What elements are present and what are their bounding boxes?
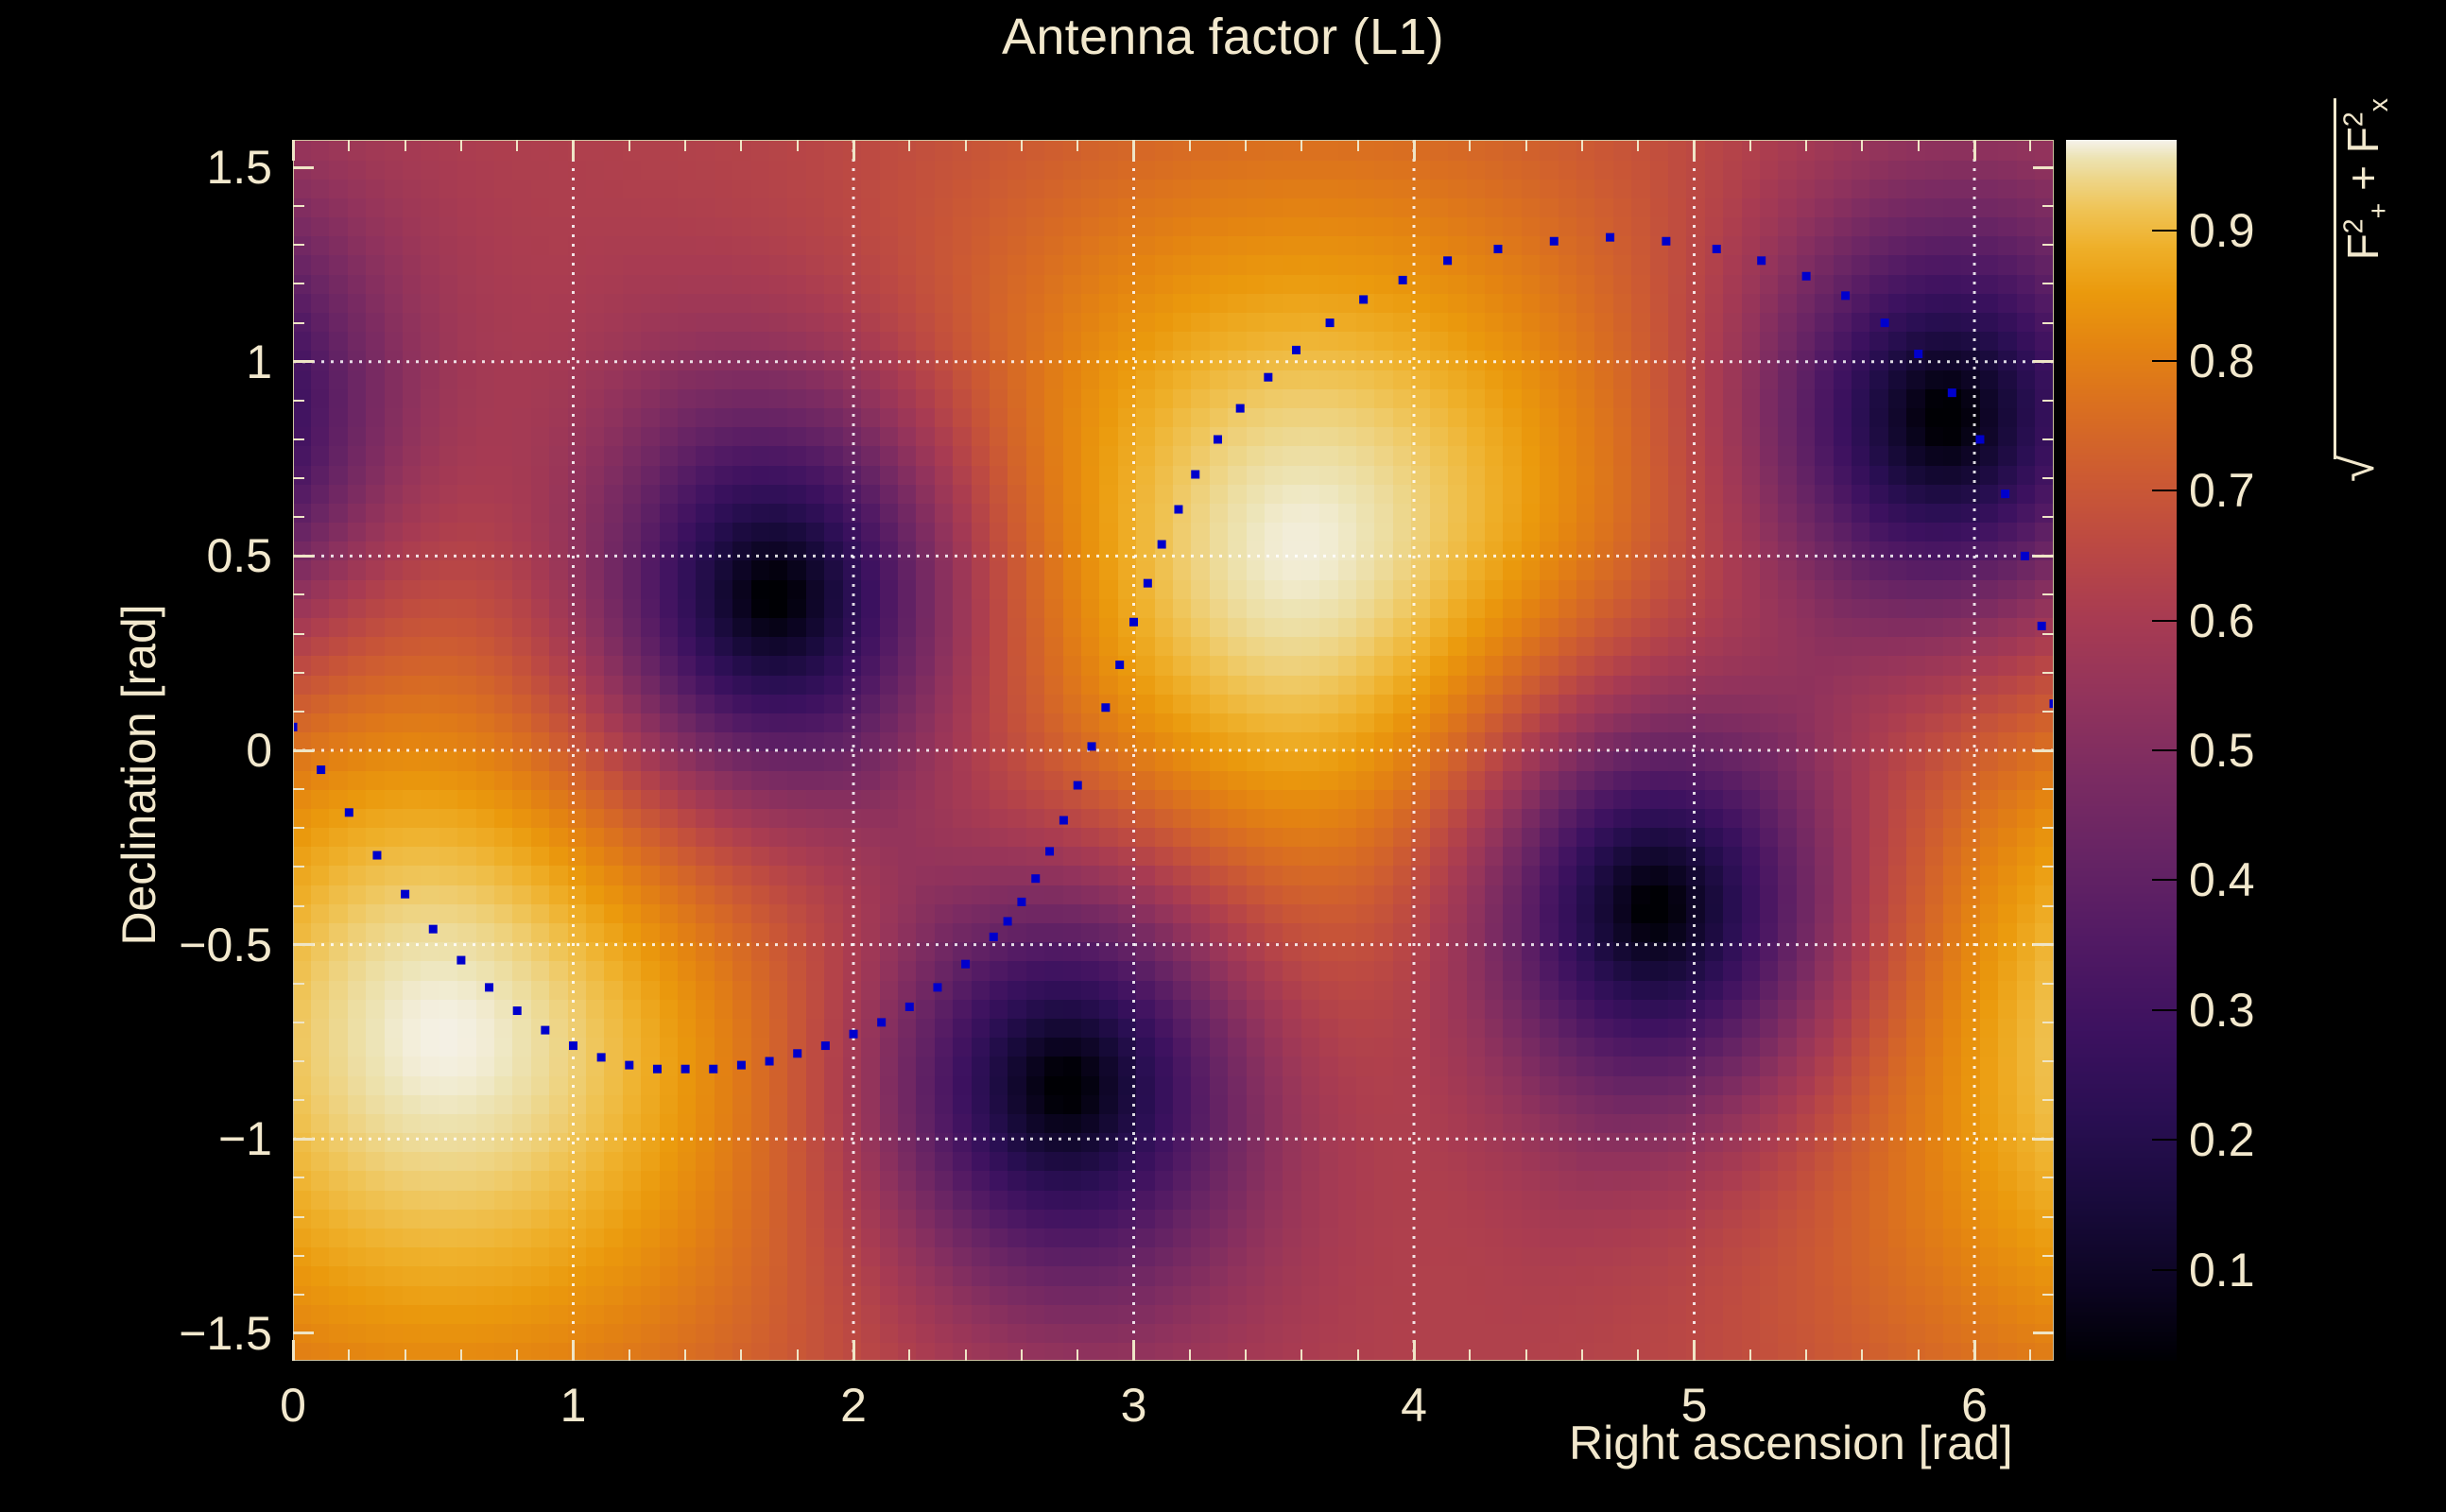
x-axis-minor-tick: [1301, 140, 1302, 151]
x-axis-minor-tick: [1245, 1349, 1247, 1361]
y-axis-minor-tick: [2042, 866, 2054, 868]
x-axis-minor-tick: [2029, 140, 2031, 151]
x-axis-minor-tick: [516, 140, 518, 151]
y-axis-minor-tick: [2042, 477, 2054, 479]
x-axis-title: Right ascension [rad]: [1569, 1416, 2013, 1470]
y-axis-minor-tick: [293, 1255, 304, 1257]
x-axis-tick-label: 3: [1121, 1378, 1147, 1433]
colorbar-tick: [2152, 1269, 2177, 1271]
x-axis-tick-label: 1: [560, 1378, 587, 1433]
y-axis-minor-tick: [293, 322, 304, 324]
radicand-b: F: [2338, 127, 2387, 153]
y-axis-tick: [293, 1138, 314, 1141]
colorbar-tick-label: 0.8: [2189, 334, 2255, 388]
y-axis-minor-tick: [293, 633, 304, 635]
y-axis-tick-label: −1.5: [76, 1306, 272, 1361]
x-axis-minor-tick: [740, 1349, 742, 1361]
x-axis-minor-tick: [2029, 1349, 2031, 1361]
plot-area[interactable]: [293, 140, 2054, 1361]
colorbar-tick: [2152, 490, 2177, 491]
colorbar-tick: [2152, 879, 2177, 881]
y-axis-minor-tick: [2042, 1216, 2054, 1218]
y-axis-minor-tick: [2042, 283, 2054, 284]
y-axis-minor-tick: [2042, 788, 2054, 790]
y-axis-tick-label: 1: [76, 335, 272, 389]
y-axis-minor-tick: [293, 1216, 304, 1218]
x-axis-minor-tick: [1918, 1349, 1920, 1361]
heatmap-image: [293, 140, 2054, 1361]
colorbar-tick: [2152, 620, 2177, 622]
x-axis-minor-tick: [1581, 140, 1583, 151]
x-axis-tick: [572, 140, 575, 161]
root-canvas: Antenna factor (L1) 0123456 −1.5−1−0.500…: [0, 0, 2446, 1512]
y-axis-minor-tick: [293, 1099, 304, 1101]
x-axis-minor-tick: [348, 140, 350, 151]
x-axis-minor-tick: [908, 140, 910, 151]
x-axis-minor-tick: [460, 1349, 462, 1361]
colorbar-tick-label: 0.4: [2189, 852, 2255, 907]
x-axis-minor-tick: [1749, 140, 1751, 151]
radicand-b-sup: 2: [2339, 112, 2369, 127]
colorbar-tick: [2152, 230, 2177, 232]
y-axis-tick: [2033, 1332, 2054, 1334]
radicand-b-sub: x: [2364, 98, 2394, 112]
x-axis-minor-tick: [965, 140, 967, 151]
y-axis-minor-tick: [2042, 593, 2054, 595]
x-axis-tick: [1973, 140, 1976, 161]
y-axis-minor-tick: [2042, 1255, 2054, 1257]
y-axis-tick: [2033, 555, 2054, 558]
y-axis-minor-tick: [293, 244, 304, 246]
plus-sign: +: [2338, 153, 2387, 202]
y-axis-minor-tick: [293, 516, 304, 518]
y-axis-minor-tick: [293, 438, 304, 440]
y-axis-minor-tick: [293, 1294, 304, 1296]
x-axis-minor-tick: [908, 1349, 910, 1361]
y-axis-minor-tick: [293, 477, 304, 479]
y-axis-tick: [293, 1332, 314, 1334]
y-axis-tick: [2033, 360, 2054, 363]
x-axis-minor-tick: [1861, 1349, 1863, 1361]
y-axis-minor-tick: [2042, 983, 2054, 985]
x-axis-minor-tick: [1805, 1349, 1807, 1361]
x-axis-minor-tick: [348, 1349, 350, 1361]
y-axis-minor-tick: [293, 400, 304, 402]
y-axis-tick-label: 1.5: [76, 140, 272, 195]
x-axis-tick: [1413, 140, 1416, 161]
radicand-a-sup: 2: [2339, 218, 2369, 233]
x-axis-minor-tick: [1749, 1349, 1751, 1361]
sqrt-icon: √: [2333, 455, 2382, 482]
y-axis-minor-tick: [293, 672, 304, 674]
y-axis-minor-tick: [293, 1022, 304, 1023]
y-axis-minor-tick: [2042, 672, 2054, 674]
y-axis-minor-tick: [2042, 438, 2054, 440]
y-axis-minor-tick: [2042, 205, 2054, 207]
x-axis-minor-tick: [405, 1349, 406, 1361]
y-axis-tick-label: 0: [76, 723, 272, 778]
y-axis-tick: [293, 166, 314, 169]
x-axis-tick: [292, 140, 295, 161]
y-axis-minor-tick: [2042, 827, 2054, 829]
x-axis-tick: [292, 1340, 295, 1361]
y-axis-minor-tick: [2042, 244, 2054, 246]
y-axis-title: Declination [rad]: [112, 604, 166, 945]
y-axis-minor-tick: [293, 866, 304, 868]
x-axis-minor-tick: [1021, 1349, 1023, 1361]
x-axis-minor-tick: [1077, 1349, 1078, 1361]
x-axis-tick: [853, 1340, 855, 1361]
y-axis-tick: [2033, 943, 2054, 946]
colorbar-tick-label: 0.7: [2189, 463, 2255, 518]
y-axis-minor-tick: [293, 205, 304, 207]
y-axis-minor-tick: [2042, 1022, 2054, 1023]
x-axis-minor-tick: [1021, 140, 1023, 151]
page-title: Antenna factor (L1): [0, 8, 2446, 66]
y-axis-minor-tick: [2042, 1060, 2054, 1062]
y-axis-minor-tick: [2042, 711, 2054, 713]
colorbar-tick: [2152, 1139, 2177, 1141]
y-axis-tick: [2033, 166, 2054, 169]
y-axis-tick-label: −1: [76, 1111, 272, 1166]
x-axis-minor-tick: [1189, 140, 1191, 151]
x-axis-tick-label: 0: [280, 1378, 306, 1433]
y-axis-minor-tick: [2042, 400, 2054, 402]
x-axis-minor-tick: [684, 140, 686, 151]
y-axis-minor-tick: [2042, 1177, 2054, 1178]
y-axis-minor-tick: [293, 983, 304, 985]
x-axis-tick: [572, 1340, 575, 1361]
x-axis-minor-tick: [1861, 140, 1863, 151]
x-axis-tick: [1413, 1340, 1416, 1361]
x-axis-minor-tick: [516, 1349, 518, 1361]
y-axis-minor-tick: [2042, 1099, 2054, 1101]
y-axis-minor-tick: [2042, 516, 2054, 518]
x-axis-minor-tick: [1581, 1349, 1583, 1361]
y-axis-minor-tick: [293, 827, 304, 829]
x-axis-minor-tick: [1469, 140, 1471, 151]
y-axis-minor-tick: [293, 905, 304, 907]
y-axis-minor-tick: [2042, 633, 2054, 635]
sqrt-overbar: [2334, 98, 2336, 459]
y-axis-minor-tick: [2042, 1294, 2054, 1296]
x-axis-tick: [1132, 140, 1135, 161]
y-axis-tick: [2033, 749, 2054, 752]
x-axis-minor-tick: [629, 140, 630, 151]
y-axis-tick: [2033, 1138, 2054, 1141]
colorbar-tick-label: 0.3: [2189, 983, 2255, 1038]
colorbar-tick-label: 0.9: [2189, 203, 2255, 258]
colorbar-tick: [2152, 360, 2177, 362]
x-axis-tick: [1973, 1340, 1976, 1361]
y-axis-tick: [293, 749, 314, 752]
x-axis-minor-tick: [1357, 140, 1359, 151]
radicand-a-sub: +: [2364, 203, 2394, 219]
x-axis-minor-tick: [1637, 140, 1639, 151]
colorbar-tick-label: 0.2: [2189, 1112, 2255, 1167]
y-axis-tick: [293, 360, 314, 363]
x-axis-tick: [853, 140, 855, 161]
y-axis-minor-tick: [293, 711, 304, 713]
y-axis-minor-tick: [293, 788, 304, 790]
radicand-a: F: [2338, 233, 2387, 260]
x-axis-tick: [1693, 140, 1696, 161]
colorbar-tick: [2152, 1009, 2177, 1011]
x-axis-minor-tick: [405, 140, 406, 151]
y-axis-tick-label: 0.5: [76, 528, 272, 583]
y-axis-tick: [293, 555, 314, 558]
colorbar-tick-label: 0.5: [2189, 723, 2255, 778]
colorbar-tick: [2152, 749, 2177, 751]
y-axis-minor-tick: [293, 1177, 304, 1178]
x-axis-minor-tick: [797, 1349, 799, 1361]
y-axis-tick-label: −0.5: [76, 918, 272, 972]
x-axis-minor-tick: [965, 1349, 967, 1361]
x-axis-tick: [1693, 1340, 1696, 1361]
y-axis-minor-tick: [293, 1060, 304, 1062]
x-axis-minor-tick: [460, 140, 462, 151]
colorbar-tick-label: 0.6: [2189, 593, 2255, 648]
x-axis-minor-tick: [684, 1349, 686, 1361]
x-axis-minor-tick: [1245, 140, 1247, 151]
x-axis-minor-tick: [629, 1349, 630, 1361]
y-axis-minor-tick: [293, 283, 304, 284]
x-axis-tick-label: 2: [840, 1378, 867, 1433]
x-axis-minor-tick: [1357, 1349, 1359, 1361]
x-axis-tick: [1132, 1340, 1135, 1361]
x-axis-minor-tick: [1189, 1349, 1191, 1361]
x-axis-minor-tick: [1469, 1349, 1471, 1361]
x-axis-minor-tick: [1525, 1349, 1527, 1361]
y-axis-minor-tick: [2042, 322, 2054, 324]
x-axis-minor-tick: [1301, 1349, 1302, 1361]
x-axis-minor-tick: [1805, 140, 1807, 151]
x-axis-minor-tick: [797, 140, 799, 151]
x-axis-tick-label: 4: [1401, 1378, 1427, 1433]
colorbar-tick-label: 0.1: [2189, 1243, 2255, 1297]
x-axis-minor-tick: [1525, 140, 1527, 151]
y-axis-minor-tick: [293, 593, 304, 595]
y-axis-tick: [293, 943, 314, 946]
x-axis-minor-tick: [1077, 140, 1078, 151]
x-axis-minor-tick: [740, 140, 742, 151]
x-axis-minor-tick: [1637, 1349, 1639, 1361]
x-axis-minor-tick: [1918, 140, 1920, 151]
y-axis-minor-tick: [2042, 905, 2054, 907]
